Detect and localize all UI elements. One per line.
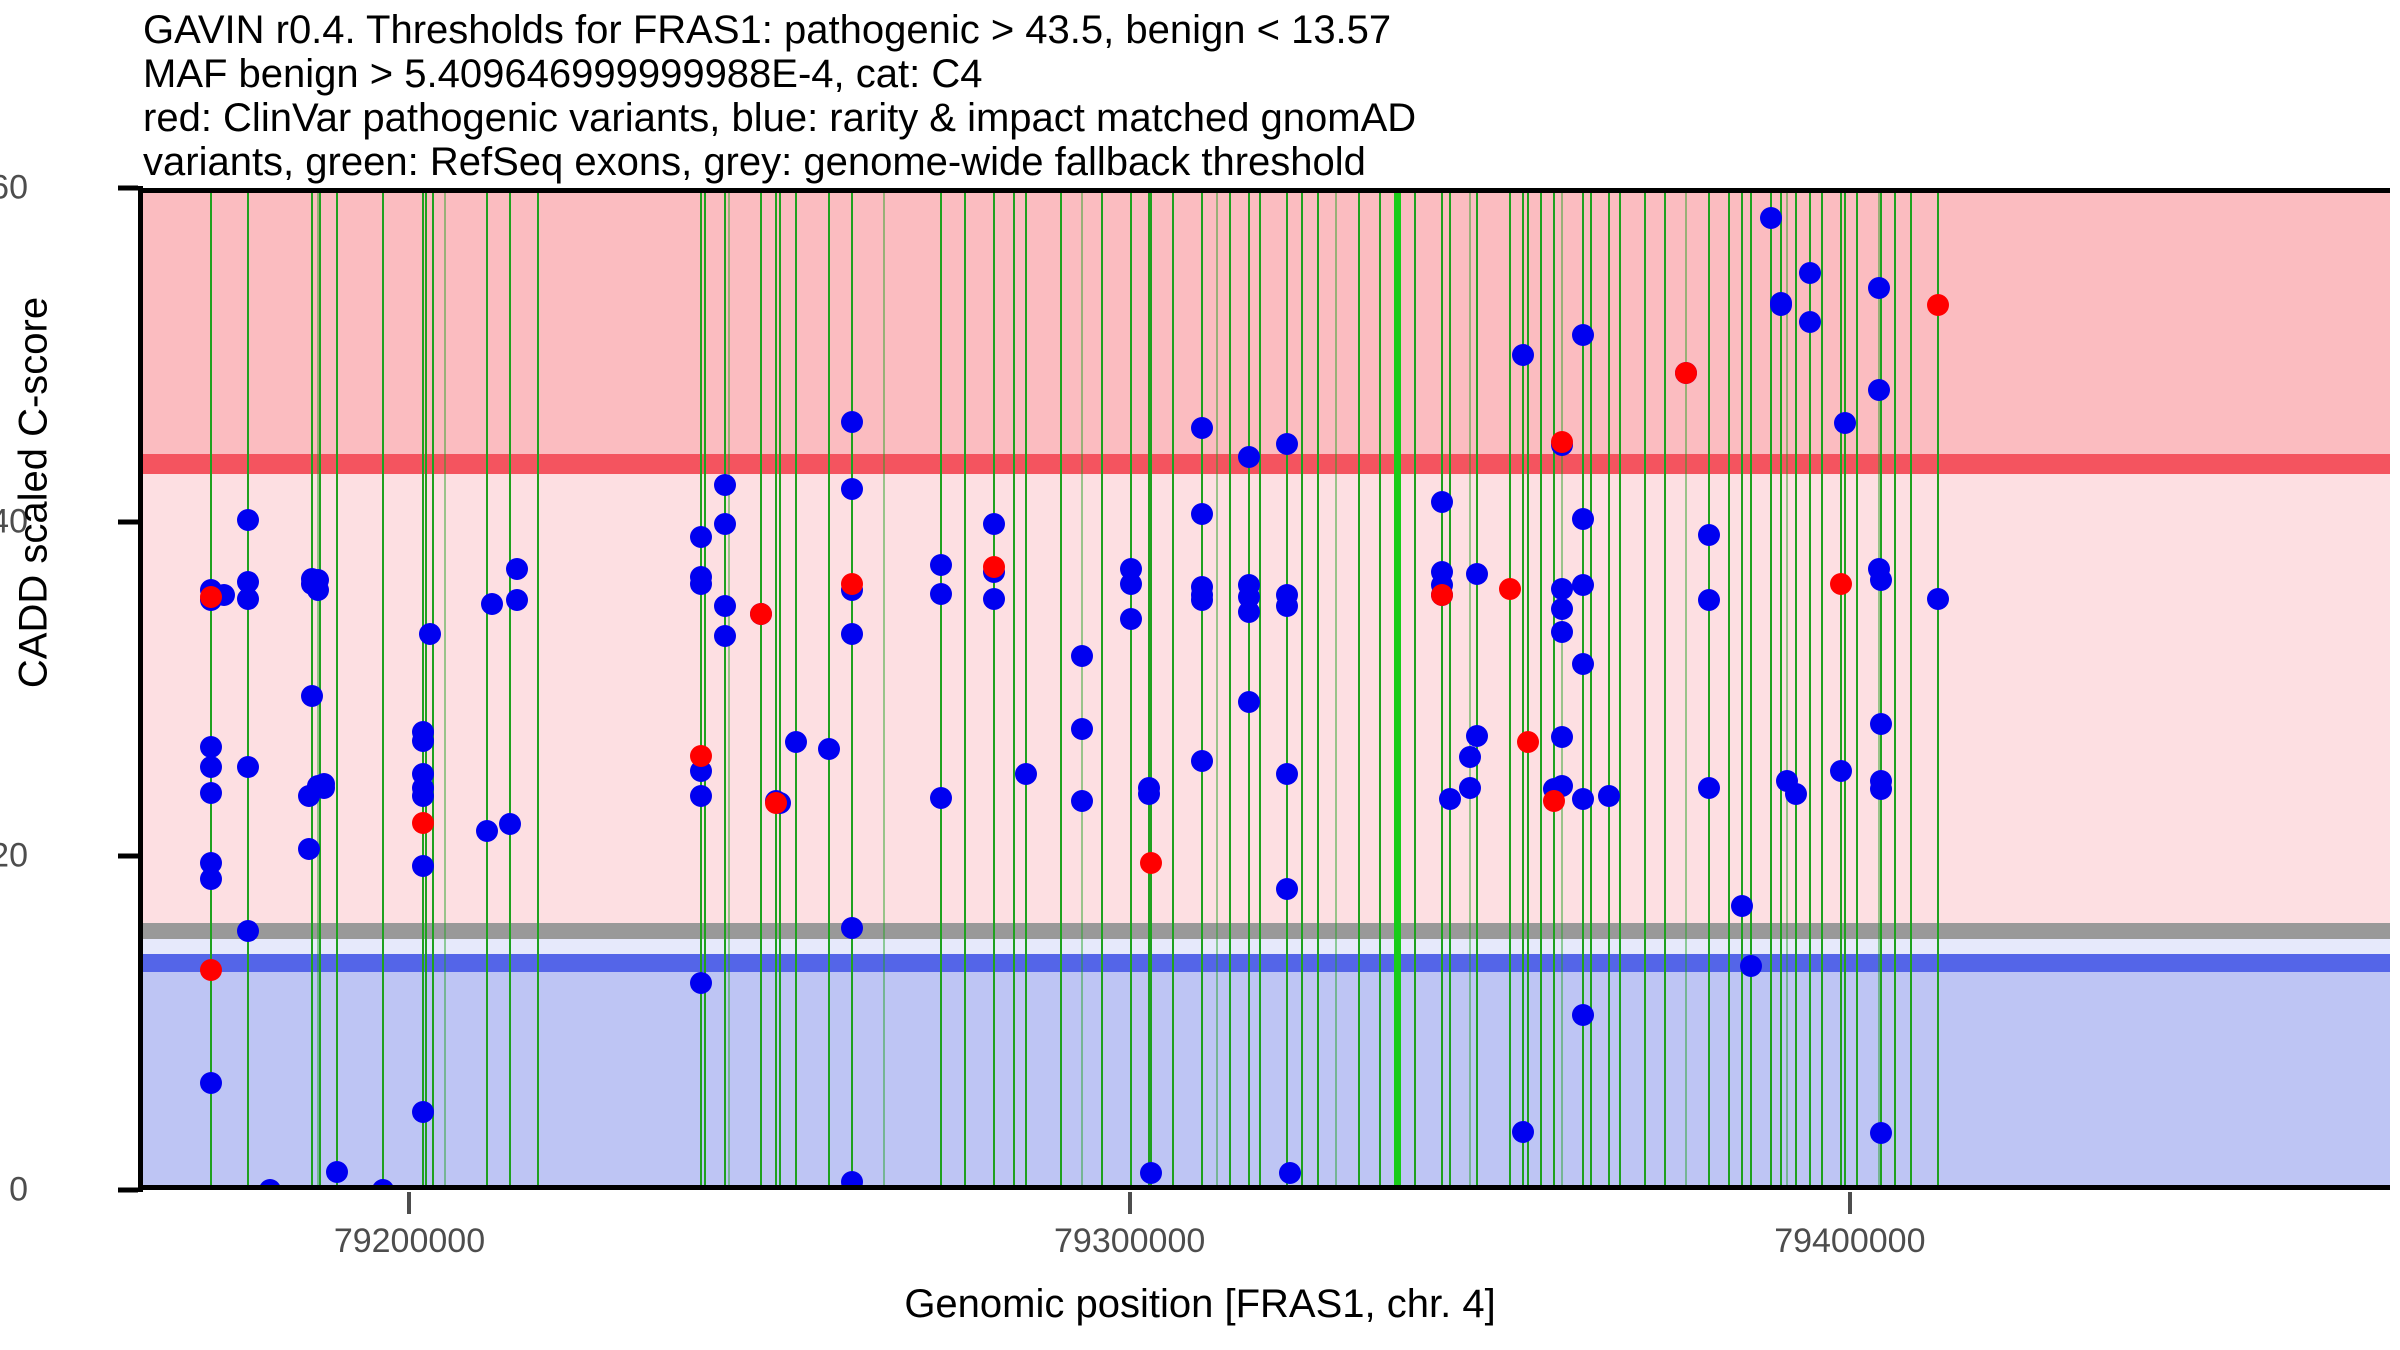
plot-area [143, 188, 2390, 1190]
chart-page: GAVIN r0.4. Thresholds for FRAS1: pathog… [0, 0, 2400, 1350]
x-tick-label: 79200000 [334, 1222, 485, 1261]
x-tick-label: 79300000 [1054, 1222, 1205, 1261]
title-line-2: MAF benign > 5.409646999999988E-4, cat: … [143, 52, 2243, 96]
x-tick-label: 79400000 [1774, 1222, 1925, 1261]
y-tick-label: 60 [0, 169, 28, 208]
title-line-4: variants, green: RefSeq exons, grey: gen… [143, 140, 2243, 184]
plot-border [143, 188, 2390, 1190]
title-line-1: GAVIN r0.4. Thresholds for FRAS1: pathog… [143, 8, 2243, 52]
y-axis-label: CADD scaled C-score [12, 273, 57, 713]
chart-title-block: GAVIN r0.4. Thresholds for FRAS1: pathog… [143, 8, 2243, 184]
y-tick-mark [118, 854, 138, 859]
x-axis-label: Genomic position [FRAS1, chr. 4] [0, 1282, 2400, 1327]
y-tick-mark [118, 520, 138, 525]
x-tick-mark [1848, 1192, 1852, 1214]
x-tick-mark [407, 1192, 411, 1214]
x-tick-mark [1128, 1192, 1132, 1214]
y-tick-label: 20 [0, 837, 28, 876]
title-line-3: red: ClinVar pathogenic variants, blue: … [143, 96, 2243, 140]
y-tick-mark [118, 1188, 138, 1193]
y-tick-mark [118, 186, 138, 191]
y-tick-label: 0 [9, 1171, 28, 1210]
